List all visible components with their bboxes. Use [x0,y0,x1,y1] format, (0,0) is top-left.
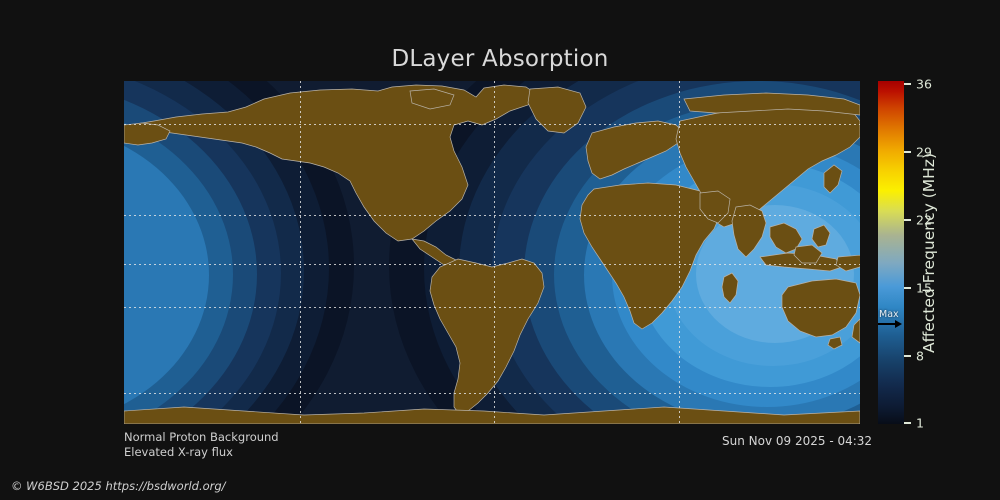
antarctica [124,407,860,424]
app-root: DLayer Absorption [0,0,1000,500]
new-zealand [852,319,860,343]
australia [782,279,860,337]
continents-layer [124,81,860,424]
philippines [812,225,830,247]
europe [586,121,684,179]
status-proton-background: Normal Proton Background [124,430,279,444]
colorbar-tick-1 [904,422,911,424]
colorbar-tick-22 [904,219,911,221]
copyright-notice: © W6BSD 2025 https://bsdworld.org/ [11,479,226,493]
india [732,205,766,257]
world-map[interactable] [124,81,860,424]
colorbar-tick-36 [904,83,911,85]
landmasses [124,85,860,424]
colorbar-tick-29 [904,151,911,153]
greenland [528,87,586,133]
colorbar-tick-8 [904,355,911,357]
north-america [130,85,538,241]
tasmania [828,337,842,349]
max-arrow-icon [878,319,904,328]
colorbar-axis-label: Affected Frequency (MHz) [915,81,943,424]
timestamp: Sun Nov 09 2025 - 04:32 [722,434,872,448]
gridline-meridian-1 [300,81,301,424]
status-xray-flux: Elevated X-ray flux [124,445,233,459]
colorbar-axis-label-text: Affected Frequency (MHz) [920,153,938,353]
madagascar [722,273,738,303]
gridline-tropic-capricorn [124,307,860,308]
colorbar-tick-15 [904,287,911,289]
japan [824,165,842,193]
page-title: DLayer Absorption [0,46,1000,72]
gridline-arctic-circle [124,124,860,125]
gridline-equator [124,264,860,265]
gridline-meridian-2 [494,81,495,424]
new-guinea [836,255,860,271]
colorbar[interactable]: 36 29 22 15 8 1 Max [878,81,904,424]
gridline-antarctic-circle [124,393,860,394]
gridline-tropic-cancer [124,215,860,216]
max-marker-label: Max [878,310,904,319]
colorbar-gradient [878,81,904,424]
gridline-meridian-3 [679,81,680,424]
colorbar-max-marker: Max [878,310,904,328]
south-america [430,259,544,415]
